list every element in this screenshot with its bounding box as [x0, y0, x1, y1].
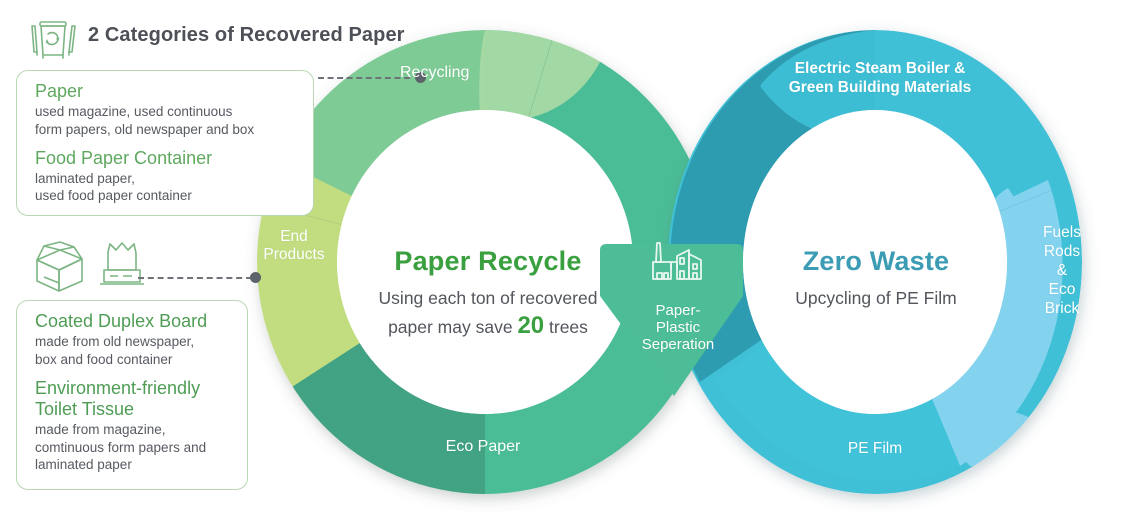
label-fuels-rods-eco-brick: Fuels Rods & Eco Brick — [1022, 224, 1102, 319]
card1-entry1-title: Paper — [35, 81, 299, 102]
connector-dot-end-products — [250, 272, 261, 283]
card1-entry2-desc: laminated paper, used food paper contain… — [35, 170, 299, 205]
card2-entry1-desc: made from old newspaper, box and food co… — [35, 333, 233, 368]
infographic-canvas: Paper used magazine, used continuous for… — [0, 0, 1130, 525]
card-recovered-paper-categories: Paper used magazine, used continuous for… — [16, 70, 314, 216]
label-pe-film: PE Film — [800, 440, 950, 458]
page-title: 2 Categories of Recovered Paper — [88, 24, 405, 47]
right-ring-title: Zero Waste — [760, 246, 992, 277]
card-end-products: Coated Duplex Board made from old newspa… — [16, 300, 248, 490]
segment-tail-pefilm — [952, 409, 1034, 466]
box-and-tissue-icon — [24, 240, 156, 294]
left-ring-line1: Using each ton of recovered — [340, 287, 636, 310]
card2-entry1-title: Coated Duplex Board — [35, 311, 233, 332]
right-ring-subtitle: Upcycling of PE Film — [760, 287, 992, 310]
label-electric-steam-boiler: Electric Steam Boiler & Green Building M… — [740, 60, 1020, 97]
line2-post: trees — [544, 317, 588, 337]
label-end-products: End Products — [246, 228, 342, 263]
factory-icon — [650, 240, 704, 282]
recycle-bin-icon — [26, 12, 80, 60]
connector-line-recycling — [318, 77, 410, 79]
card2-entry2-desc: made from magazine, comtinuous form pape… — [35, 421, 233, 473]
label-eco-paper: Eco Paper — [408, 438, 558, 456]
trees-count: 20 — [517, 312, 544, 339]
right-ring-center: Zero Waste Upcycling of PE Film — [760, 246, 992, 310]
label-recycling: Recycling — [400, 64, 560, 82]
left-ring-center: Paper Recycle Using each ton of recovere… — [340, 246, 636, 342]
left-ring-title: Paper Recycle — [340, 246, 636, 277]
card1-entry1-desc: used magazine, used continuous form pape… — [35, 103, 299, 138]
connector-line-end-products — [138, 277, 252, 279]
card2-entry2-title: Environment-friendly Toilet Tissue — [35, 378, 233, 420]
left-ring-line2: paper may save 20 trees — [340, 310, 636, 342]
line2-pre: paper may save — [388, 317, 517, 337]
card1-entry2-title: Food Paper Container — [35, 148, 299, 169]
